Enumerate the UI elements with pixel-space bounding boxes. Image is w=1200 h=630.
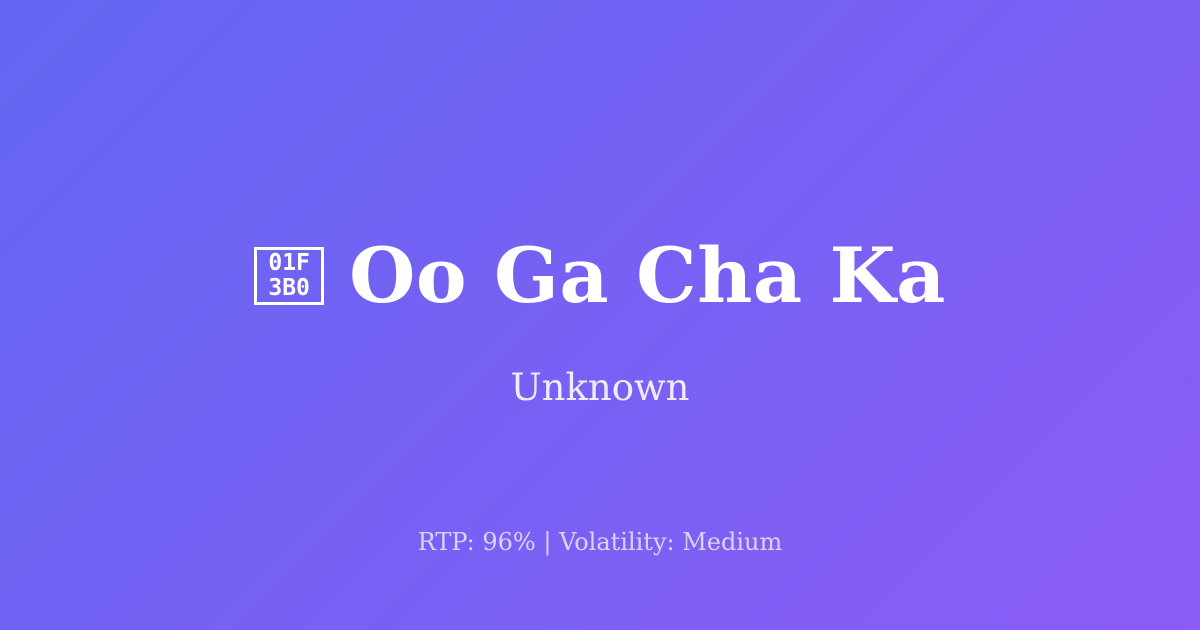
codepoint-upper-digits: 01F — [268, 251, 310, 276]
codepoint-lower-digits: 3B0 — [268, 276, 310, 301]
slot-machine-emoji-icon: 01F 3B0 — [254, 247, 324, 305]
og-preview-card: 01F 3B0 Oo Ga Cha Ka Unknown RTP: 96% | … — [0, 0, 1200, 630]
provider-name: Unknown — [0, 366, 1200, 410]
game-stats-line: RTP: 96% | Volatility: Medium — [0, 526, 1200, 558]
game-title: Oo Ga Cha Ka — [349, 236, 946, 316]
game-title-row: 01F 3B0 Oo Ga Cha Ka — [0, 236, 1200, 316]
